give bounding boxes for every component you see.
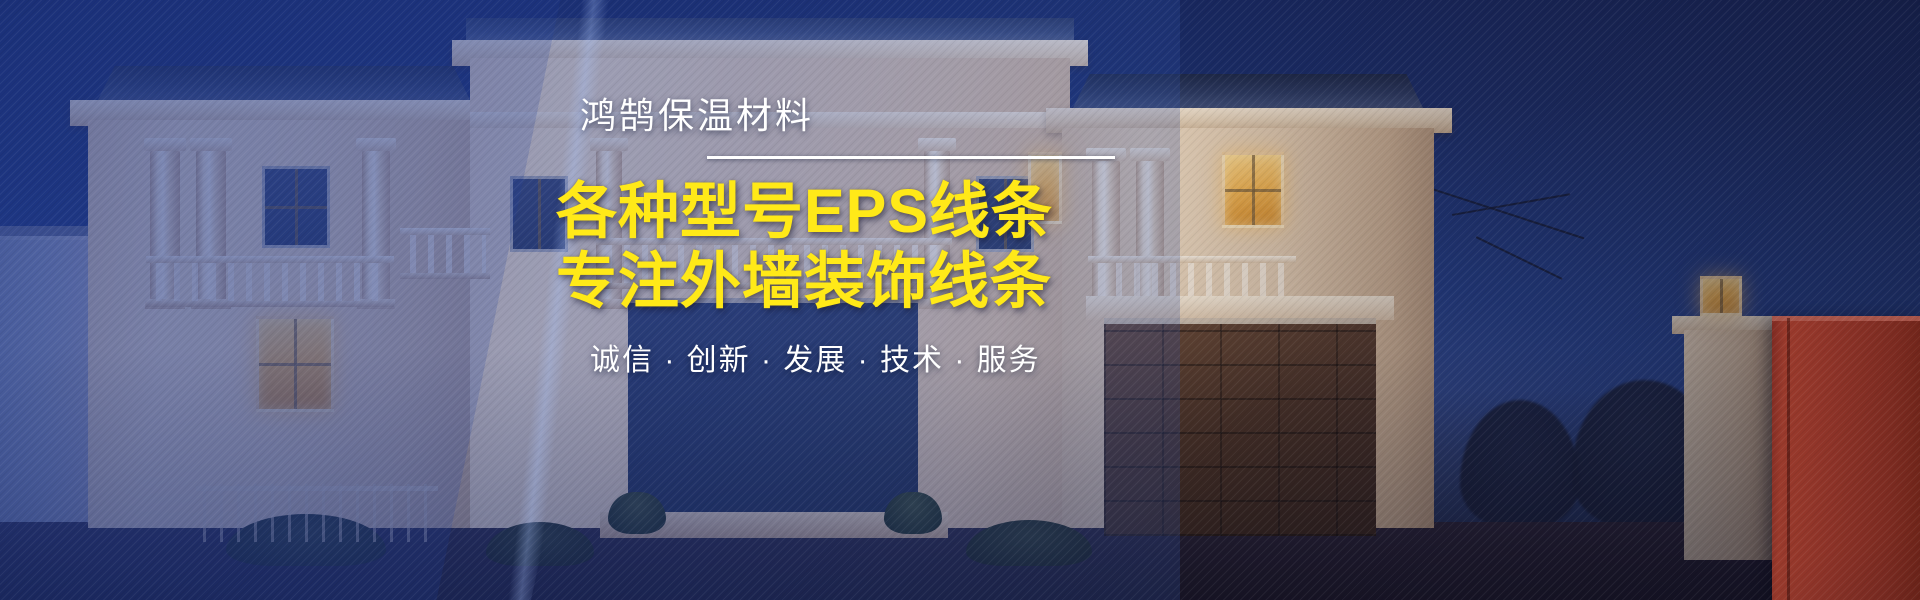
banner-copy: 鸿鹄保温材料 各种型号EPS线条 专注外墙装饰线条 诚信 · 创新 · 发展 ·… [556, 98, 1316, 376]
window-l1 [262, 166, 330, 248]
headline-line-1: 各种型号EPS线条 [556, 177, 1316, 247]
red-wall-seam [1787, 318, 1790, 600]
window-r3-lit [1700, 276, 1742, 316]
far-right-pavilion [1684, 330, 1776, 560]
divider-rule [707, 156, 1115, 159]
headline-line-2: 专注外墙装饰线条 [556, 247, 1316, 317]
left-wing-roof [96, 66, 472, 104]
window-mullion-horizontal [265, 206, 327, 209]
window-mullion-vertical [1720, 279, 1723, 313]
window-l2-lit [256, 316, 334, 412]
hero-banner: 鸿鹄保温材料 各种型号EPS线条 专注外墙装饰线条 诚信 · 创新 · 发展 ·… [0, 0, 1920, 600]
tagline: 诚信 · 创新 · 发展 · 技术 · 服务 [590, 346, 1316, 376]
red-wall [1772, 318, 1920, 600]
iron-fence [196, 484, 438, 542]
planter-right [884, 492, 942, 534]
far-left-building [0, 236, 94, 532]
center-roof-band [466, 18, 1074, 42]
window-mullion-horizontal [259, 363, 331, 366]
balustrade-left [150, 262, 390, 302]
planter-left [608, 492, 666, 534]
red-wall-top-edge [1772, 316, 1920, 321]
balustrade-center-left [404, 234, 486, 274]
window-mullion-vertical [538, 179, 541, 249]
brand-name: 鸿鹄保温材料 [580, 98, 1316, 134]
